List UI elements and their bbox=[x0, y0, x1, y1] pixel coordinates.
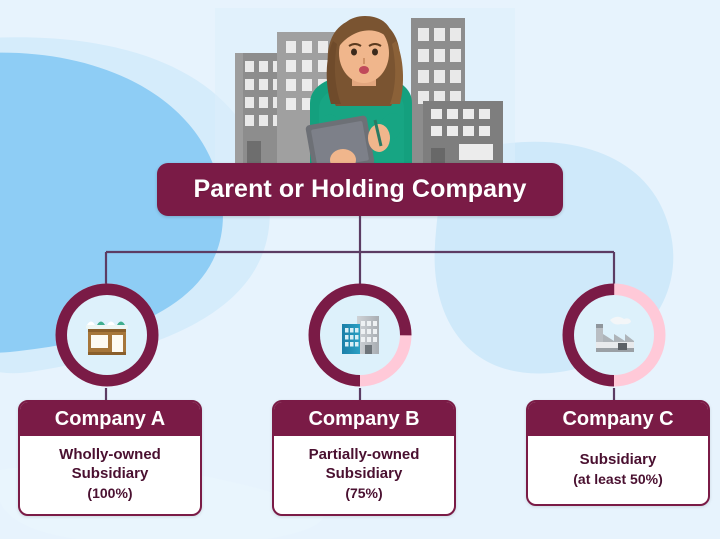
storefront-icon bbox=[81, 311, 133, 359]
company-a-body: Wholly-owned Subsidiary (100%) bbox=[20, 436, 200, 514]
company-a-name: Company A bbox=[55, 408, 165, 431]
company-b-body: Partially-owned Subsidiary (75%) bbox=[274, 436, 454, 514]
company-b-header: Company B bbox=[274, 402, 454, 436]
company-a-desc-line1: Wholly-owned bbox=[26, 445, 194, 464]
company-a-header: Company A bbox=[20, 402, 200, 436]
ring-a-icon-well bbox=[67, 295, 147, 375]
company-c-header: Company C bbox=[528, 402, 708, 436]
ownership-ring-company-a[interactable] bbox=[52, 280, 162, 390]
company-c-body: Subsidiary (at least 50%) bbox=[528, 436, 708, 504]
ownership-ring-company-b[interactable] bbox=[305, 280, 415, 390]
ring-b-icon-well bbox=[320, 295, 400, 375]
company-b-ownership: (75%) bbox=[280, 484, 448, 502]
ownership-ring-company-c[interactable] bbox=[559, 280, 669, 390]
company-c-desc-line2: (at least 50%) bbox=[534, 470, 702, 488]
company-b-desc-line1: Partially-owned bbox=[280, 445, 448, 464]
company-a-ownership: (100%) bbox=[26, 484, 194, 502]
company-b-name: Company B bbox=[308, 408, 419, 431]
company-a-desc-line2: Subsidiary bbox=[26, 464, 194, 483]
ring-c-icon-well bbox=[574, 295, 654, 375]
company-card-a[interactable]: Company A Wholly-owned Subsidiary (100%) bbox=[18, 400, 202, 516]
company-c-desc-line1: Subsidiary bbox=[534, 450, 702, 469]
company-c-name: Company C bbox=[562, 408, 673, 431]
company-card-b[interactable]: Company B Partially-owned Subsidiary (75… bbox=[272, 400, 456, 516]
factory-icon bbox=[588, 312, 640, 358]
infographic-canvas: Parent or Holding Company bbox=[0, 0, 720, 539]
company-card-c[interactable]: Company C Subsidiary (at least 50%) bbox=[526, 400, 710, 506]
office-building-icon bbox=[335, 310, 385, 360]
company-b-desc-line2: Subsidiary bbox=[280, 464, 448, 483]
